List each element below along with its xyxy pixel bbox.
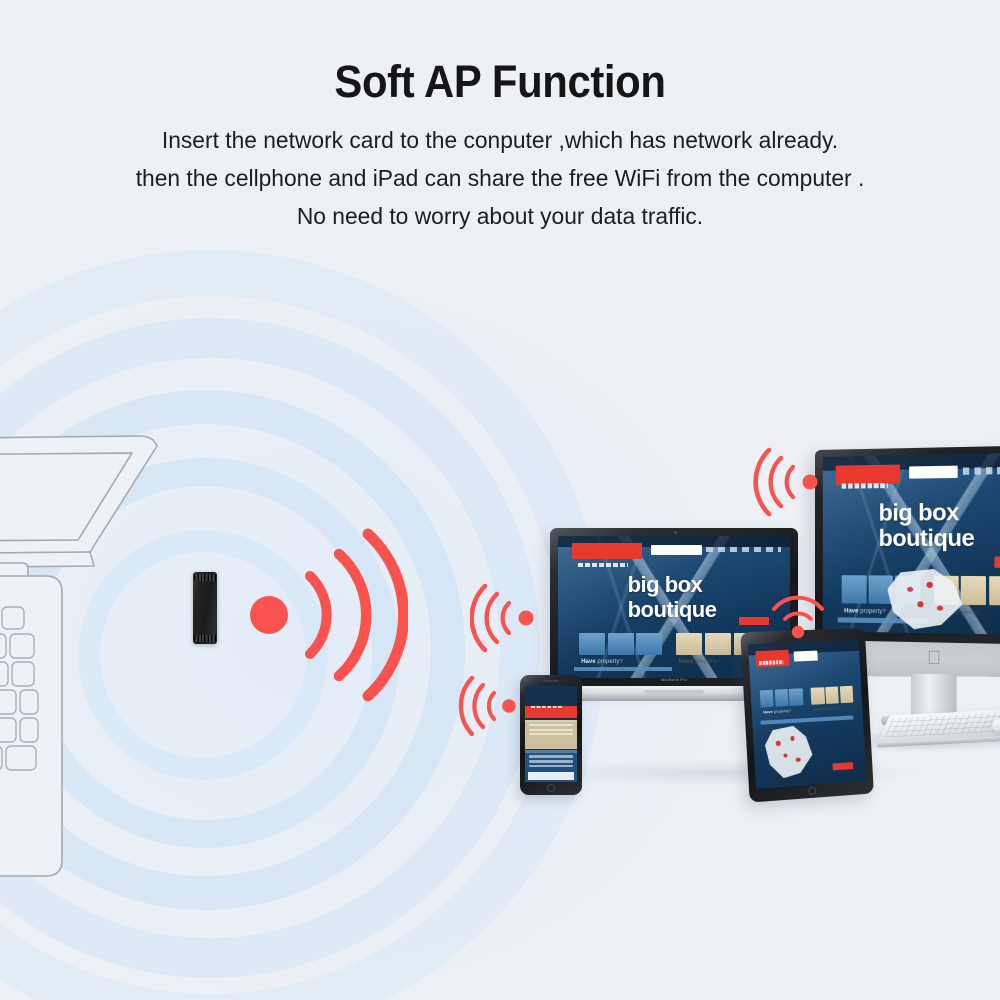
wifi-arc-2 bbox=[487, 594, 497, 642]
ipad-home-button[interactable] bbox=[808, 787, 816, 796]
wifi-arc-1 bbox=[310, 576, 327, 654]
site-have-caption: Have property? bbox=[763, 706, 791, 718]
site-need-caption: Need property? bbox=[813, 703, 841, 714]
wifi-signal-icon-iphone bbox=[458, 673, 518, 739]
site-brand-logo bbox=[572, 543, 642, 559]
site-menu-item[interactable] bbox=[529, 760, 573, 763]
wifi-dot bbox=[803, 475, 818, 490]
imac-screen-site: big box boutique Have property? Need pro… bbox=[823, 453, 1000, 636]
site-menu-item[interactable] bbox=[529, 729, 573, 731]
site-cta-button[interactable] bbox=[739, 617, 769, 626]
site-brand-logo bbox=[836, 464, 901, 484]
wifi-dot bbox=[502, 699, 516, 713]
apple-logo-icon:  bbox=[927, 649, 941, 668]
site-headline-line2: boutique bbox=[879, 525, 975, 552]
macbook-camera-icon bbox=[674, 531, 677, 534]
imac-bezel: big box boutique Have property? Need pro… bbox=[815, 445, 1000, 645]
wifi-signal-icon-main bbox=[248, 528, 408, 703]
wifi-arc-3 bbox=[472, 586, 485, 650]
site-nav-links[interactable] bbox=[962, 466, 1000, 474]
site-map-graphic bbox=[764, 725, 814, 780]
ipad-screen-site: Have property? Need property? bbox=[748, 640, 866, 789]
site-search-input[interactable] bbox=[909, 466, 958, 479]
site-menu-item[interactable] bbox=[529, 765, 573, 768]
wifi-arc-2 bbox=[474, 685, 483, 727]
illustration-stage: Soft AP Function Insert the network card… bbox=[0, 0, 1000, 1000]
device-ipad: Have property? Need property? bbox=[745, 630, 871, 798]
wifi-dot bbox=[250, 596, 288, 634]
wifi-dot bbox=[792, 626, 804, 638]
site-blue-boxes bbox=[760, 688, 803, 707]
wifi-arc-2 bbox=[771, 458, 781, 506]
wifi-arc-3 bbox=[368, 534, 404, 696]
usb-adapter-ribs-top bbox=[194, 574, 216, 581]
wifi-arc-3 bbox=[461, 678, 472, 734]
device-imac:  big box boutique bbox=[815, 450, 1000, 640]
site-menu-item[interactable] bbox=[529, 724, 573, 726]
site-section-title bbox=[525, 750, 577, 753]
usb-adapter-ribs-bottom bbox=[194, 635, 216, 642]
wifi-signal-icon-imac bbox=[753, 445, 819, 519]
site-menu-item[interactable] bbox=[529, 755, 573, 758]
iphone-body bbox=[520, 675, 582, 795]
site-cta-button[interactable] bbox=[833, 762, 853, 770]
header-text-block: Soft AP Function Insert the network card… bbox=[0, 0, 1000, 235]
site-brand-logo bbox=[525, 706, 577, 718]
wifi-arc-2 bbox=[339, 554, 366, 676]
site-menu-item[interactable] bbox=[529, 733, 573, 735]
apple-keyboard-keys bbox=[885, 712, 1000, 738]
site-cta-button[interactable] bbox=[994, 557, 1000, 568]
ipad-body: Have property? Need property? bbox=[740, 628, 874, 803]
iphone-speaker bbox=[543, 680, 559, 682]
wifi-arc-1 bbox=[503, 603, 509, 633]
site-search-input[interactable] bbox=[793, 651, 818, 662]
site-need-caption: Need property? bbox=[679, 657, 721, 667]
site-search-input[interactable] bbox=[651, 545, 702, 555]
wifi-arc-2 bbox=[774, 598, 822, 609]
wifi-arc-1 bbox=[787, 467, 793, 497]
site-headline-line1: big box bbox=[628, 572, 703, 597]
subtitle-line-3: No need to worry about your data traffic… bbox=[15, 197, 985, 235]
subtitle-line-2: then the cellphone and iPad can share th… bbox=[15, 159, 985, 197]
iphone-screen-site bbox=[525, 686, 577, 782]
page-title: Soft AP Function bbox=[35, 58, 965, 105]
wifi-arc-3 bbox=[756, 450, 769, 514]
site-nav-links[interactable] bbox=[706, 547, 780, 553]
page-subtitle: Insert the network card to the conputer … bbox=[15, 121, 985, 235]
site-headline-line1: big box bbox=[879, 498, 959, 525]
site-headline: big box boutique bbox=[628, 573, 717, 622]
subtitle-line-1: Insert the network card to the conputer … bbox=[15, 121, 985, 159]
wifi-signal-icon-macbook bbox=[470, 582, 536, 654]
site-headline-line2: boutique bbox=[628, 597, 717, 622]
wifi-arc-1 bbox=[785, 613, 811, 619]
iphone-home-button[interactable] bbox=[547, 784, 555, 792]
wifi-dot bbox=[519, 611, 534, 626]
site-have-caption: Have property? bbox=[844, 605, 886, 618]
site-tan-boxes bbox=[811, 686, 853, 705]
apple-keyboard[interactable] bbox=[877, 708, 1000, 743]
site-progress-bar bbox=[574, 667, 671, 671]
device-cluster:  big box boutique bbox=[500, 430, 1000, 850]
site-have-caption: Have property? bbox=[581, 657, 623, 667]
wifi-signal-icon-ipad bbox=[768, 592, 828, 640]
wifi-arc-1 bbox=[489, 693, 494, 719]
usb-wifi-adapter bbox=[193, 572, 217, 644]
device-iphone bbox=[520, 675, 582, 795]
site-brand-logo bbox=[755, 650, 790, 667]
laptop-line-art bbox=[0, 400, 260, 900]
site-section-title bbox=[525, 720, 577, 723]
site-headline: big box boutique bbox=[879, 499, 975, 552]
site-footer-bar bbox=[528, 772, 574, 780]
macbook-notch bbox=[644, 690, 704, 695]
site-tan-section bbox=[525, 720, 577, 749]
site-blue-boxes bbox=[579, 633, 663, 656]
